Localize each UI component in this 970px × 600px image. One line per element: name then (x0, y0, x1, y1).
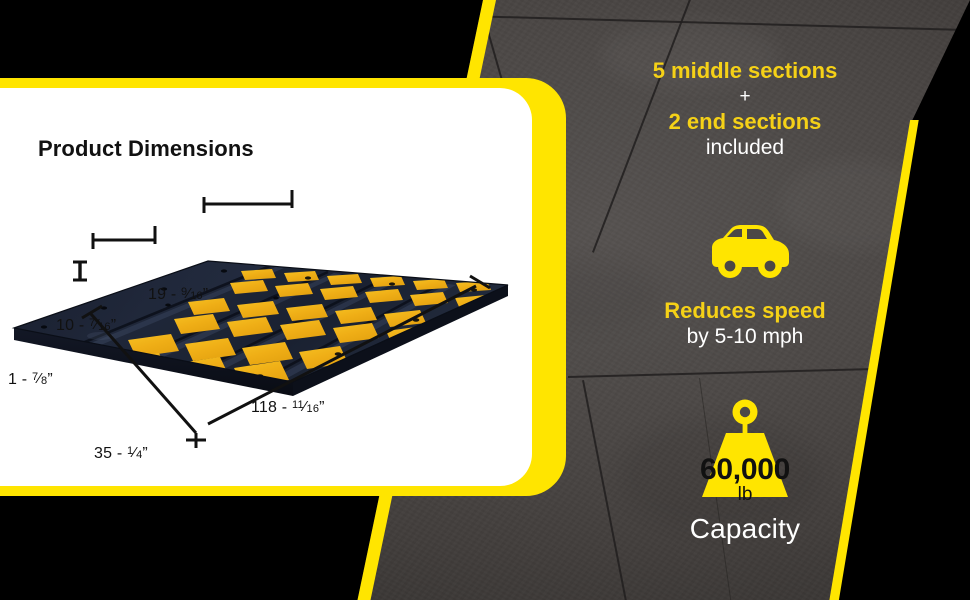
reduces-speed-detail: by 5-10 mph (565, 324, 925, 350)
feature-sections-included: 5 middle sections + 2 end sections inclu… (565, 58, 925, 161)
features-column: 5 middle sections + 2 end sections inclu… (565, 0, 925, 600)
infographic-canvas: Product Dimensions (0, 0, 970, 600)
sections-end-count: 2 end sections (565, 109, 925, 135)
capacity-unit: lb (565, 484, 925, 506)
sections-middle-count: 5 middle sections (565, 58, 925, 84)
feature-reduces-speed: Reduces speed by 5-10 mph (565, 218, 925, 350)
dimension-label-ramp-width: 10 - 7⁄16” (56, 317, 116, 335)
car-icon (690, 218, 800, 290)
product-dimensions-card: Product Dimensions (0, 88, 532, 486)
capacity-label: Capacity (565, 514, 925, 544)
dimension-label-overall-length: 118 - 11⁄16” (251, 399, 325, 417)
card-title: Product Dimensions (38, 136, 254, 162)
dimension-label-section-length: 19 - 9⁄16” (148, 286, 208, 304)
dimension-label-overall-width: 35 - 1⁄4” (94, 445, 148, 463)
capacity-value: 60,000 (565, 453, 925, 487)
product-dimensions-card-border: Product Dimensions (0, 78, 566, 496)
reduces-speed-headline: Reduces speed (565, 298, 925, 324)
dimension-label-height: 1 - 7⁄8” (8, 371, 53, 389)
sections-plus-sign: + (565, 84, 925, 109)
sections-included-label: included (565, 135, 925, 161)
feature-capacity: 60,000 lb Capacity (565, 396, 925, 544)
